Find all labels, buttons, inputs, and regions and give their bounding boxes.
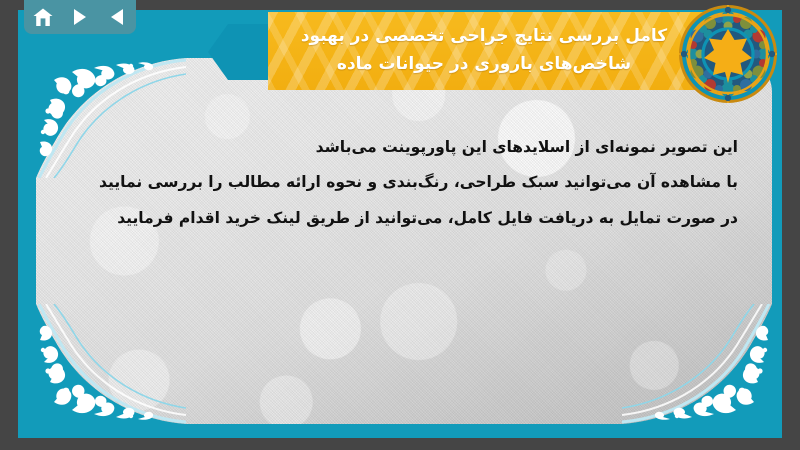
slide-content-area	[36, 58, 772, 424]
triangle-right-icon	[72, 8, 88, 26]
circular-arabesque-medallion	[676, 2, 780, 106]
title-line-2: شاخص‌های باروری در حیوانات ماده	[337, 51, 631, 79]
slide-body-text: این تصویر نمونه‌ای از اسلایدهای این پاور…	[62, 136, 738, 230]
prev-slide-button[interactable]	[104, 5, 130, 29]
next-slide-button[interactable]	[67, 5, 93, 29]
body-line-2: با مشاهده آن می‌توانید سبک طراحی، رنگ‌بن…	[62, 171, 738, 194]
navigation-bar	[24, 0, 136, 34]
title-arrow-tab	[208, 24, 270, 80]
home-icon	[33, 8, 53, 27]
title-line-1: کامل بررسی نتایج جراحی تخصصی در بهبود	[301, 23, 667, 51]
slide-viewer: این تصویر نمونه‌ای از اسلایدهای این پاور…	[0, 0, 800, 450]
body-line-3: در صورت تمایل به دریافت فایل کامل، می‌تو…	[62, 207, 738, 230]
body-line-1: این تصویر نمونه‌ای از اسلایدهای این پاور…	[62, 136, 738, 159]
triangle-left-icon	[109, 8, 125, 26]
home-button[interactable]	[30, 5, 56, 29]
slide-title-banner: کامل بررسی نتایج جراحی تخصصی در بهبود شا…	[268, 12, 728, 90]
